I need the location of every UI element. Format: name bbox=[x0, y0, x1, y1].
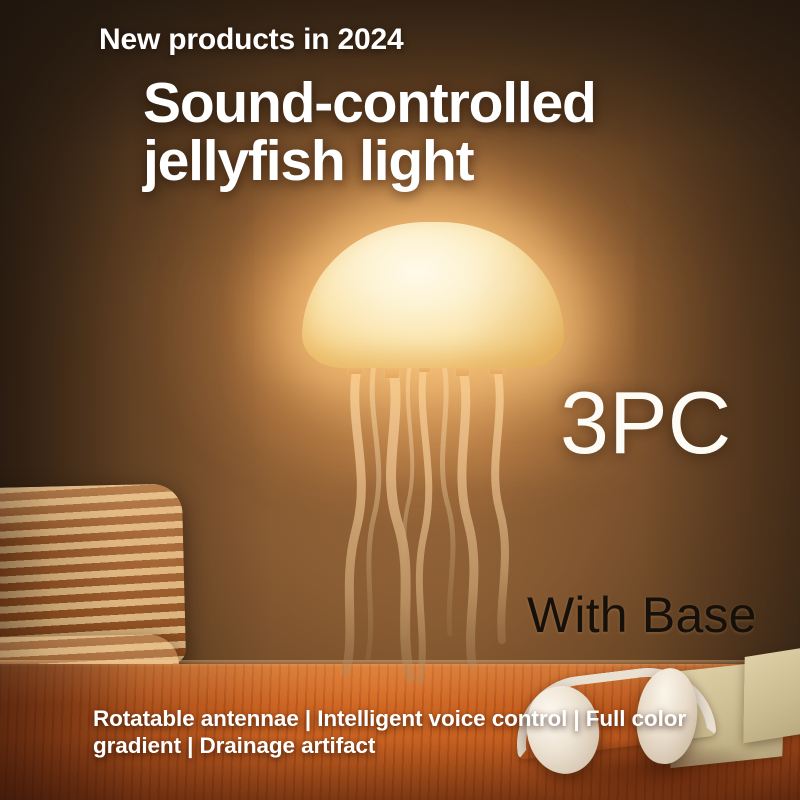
feature-list-text: Rotatable antennae | Intelligent voice c… bbox=[93, 705, 743, 760]
open-book-right-page bbox=[743, 643, 800, 744]
headline-line-1: Sound-controlled bbox=[143, 74, 596, 132]
headline-line-2: jellyfish light bbox=[143, 132, 596, 190]
quantity-badge: 3PC bbox=[560, 372, 731, 474]
eyebrow-text: New products in 2024 bbox=[99, 23, 403, 57]
with-base-badge: With Base bbox=[527, 586, 757, 644]
product-ad-image: New products in 2024 Sound-controlled je… bbox=[0, 0, 800, 800]
headline: Sound-controlled jellyfish light bbox=[143, 74, 596, 190]
